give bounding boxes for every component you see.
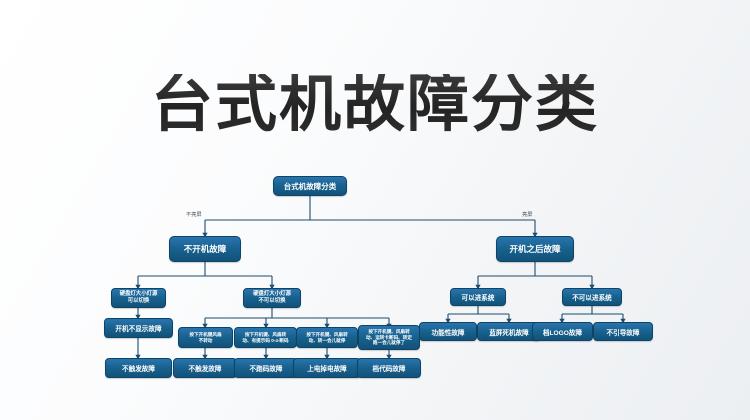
leaf-logo-stuck-fault[interactable]: 档LOGO故障 (532, 322, 593, 341)
node-hdd-light-switchable[interactable]: 硬盘灯大小灯源可以切换 (111, 288, 166, 308)
node-cannot-enter-system[interactable]: 不可以进系统 (562, 288, 622, 306)
leaf-fan-spin-then-stop[interactable]: 按下开机键、风扇转动、转一会儿就停 (296, 327, 358, 348)
fault-classification-tree: 不亮屏 亮屏 台式机故障分类 不开机故障 开机之后故障 硬盘灯大小灯源可以切换 … (0, 168, 750, 420)
node-hdd-light-not-switchable[interactable]: 硬盘灯大小灯源不可以切换 (243, 288, 301, 308)
leaf-bottom-no-trigger[interactable]: 不触发故障 (173, 358, 237, 378)
leaf-fan-spin-with-code[interactable]: 按下开机键、风扇转动、有提示码 0-4-断码 (234, 327, 297, 348)
leaf-no-display-fault[interactable]: 开机不显示故障 (104, 318, 173, 338)
leaf-no-trigger-fault[interactable]: 不触发故障 (105, 358, 172, 378)
node-root[interactable]: 台式机故障分类 (273, 176, 347, 196)
edge-label-right: 亮屏 (522, 211, 532, 218)
leaf-bottom-no-code[interactable]: 不跑码故障 (234, 358, 298, 378)
leaf-bottom-power-drop[interactable]: 上电掉电故障 (293, 358, 361, 378)
node-no-boot-fault[interactable]: 不开机故障 (169, 236, 241, 262)
node-can-enter-system[interactable]: 可以进系统 (450, 288, 506, 306)
leaf-bottom-code-fault[interactable]: 档代码故障 (357, 358, 421, 378)
leaf-no-bootstrap-fault[interactable]: 不引导故障 (593, 322, 653, 341)
edge-label-left: 不亮屏 (186, 211, 202, 218)
node-post-boot-fault[interactable]: 开机之后故障 (496, 236, 574, 262)
page-title: 台式机故障分类 (0, 74, 750, 136)
leaf-functional-fault[interactable]: 功能性故障 (419, 322, 477, 341)
leaf-fan-spin-code-stop[interactable]: 按下开机键、风扇转动、运转卡断码、转定跑一会儿就停了 (358, 325, 420, 350)
slide-canvas: 台式机故障分类 (0, 0, 750, 420)
leaf-fan-not-spinning[interactable]: 按下开机键风扇不转动 (178, 327, 233, 348)
